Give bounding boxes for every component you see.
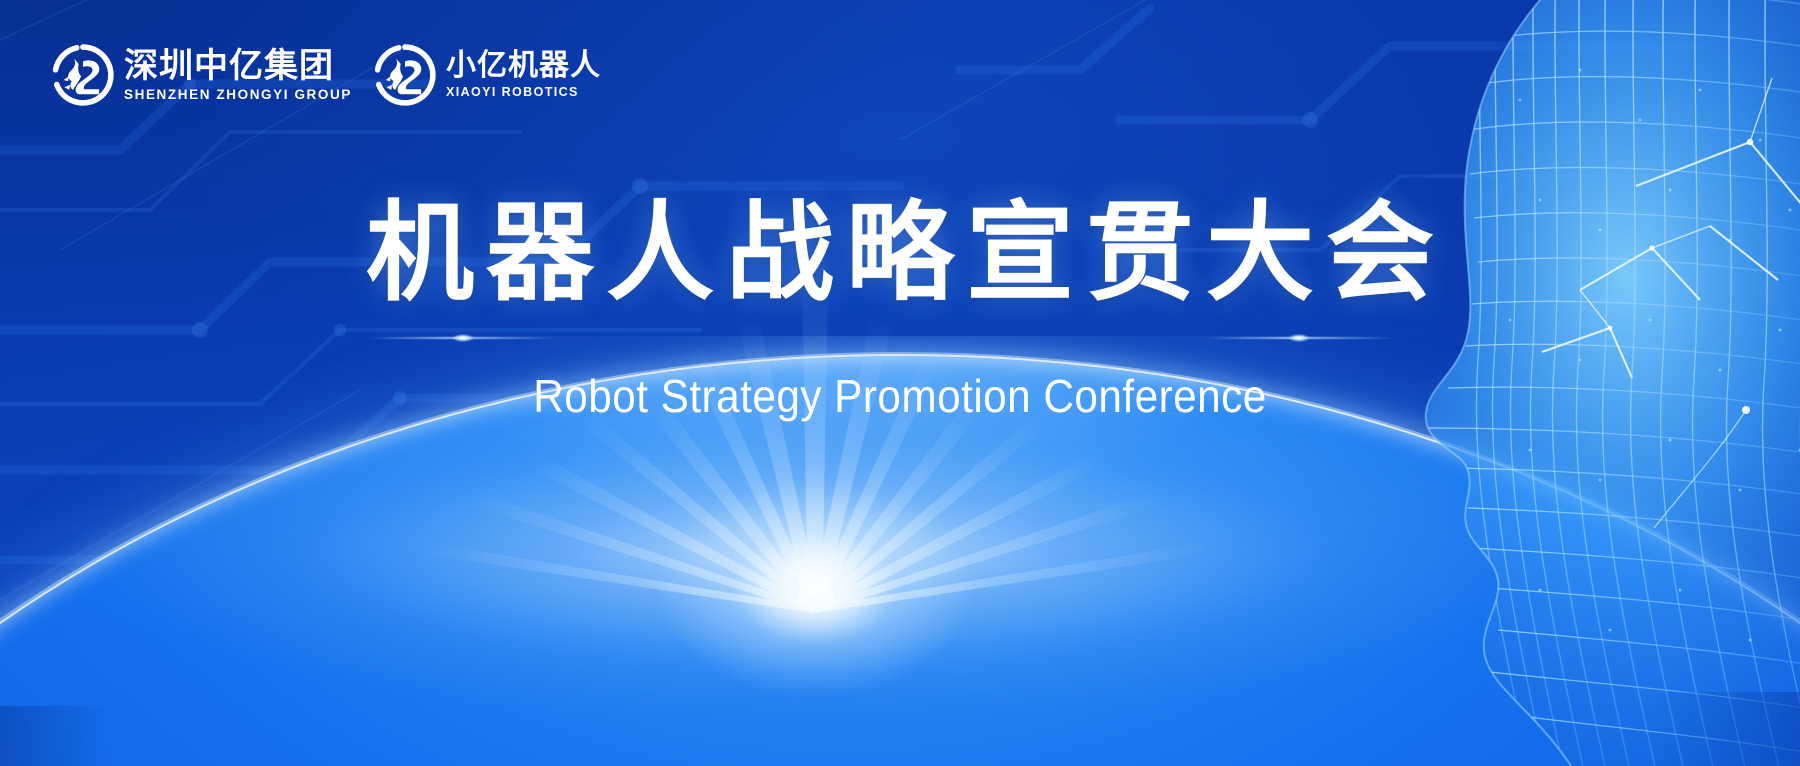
logo-row: 深圳中亿集团 SHENZHEN ZHONGYI GROUP 小亿机器人 XIAO… [52,44,601,106]
light-streak-icon [368,333,558,343]
logo-zhongyi-en: SHENZHEN ZHONGYI GROUP [124,88,352,102]
right-edge-shade [1650,692,1800,766]
conference-banner: 深圳中亿集团 SHENZHEN ZHONGYI GROUP 小亿机器人 XIAO… [0,0,1800,766]
title-divider [0,325,1800,351]
logo-xiaoyi-cn: 小亿机器人 [446,51,601,81]
logo-xiaoyi-en: XIAOYI ROBOTICS [446,86,601,99]
logo-xiaoyi[interactable]: 小亿机器人 XIAOYI ROBOTICS [374,44,601,106]
circular-dragon-yi-logo-icon [374,44,436,106]
logo-zhongyi-cn: 深圳中亿集团 [124,49,352,83]
page-subtitle: Robot Strategy Promotion Conference [72,369,1728,423]
light-streak-icon [1204,333,1394,343]
logo-zhongyi[interactable]: 深圳中亿集团 SHENZHEN ZHONGYI GROUP [52,44,352,106]
left-edge-shade [0,706,112,766]
sun-core-glow [655,478,975,698]
circular-dragon-yi-logo-icon [52,44,114,106]
title-block: 机器人战略宣贯大会 Robot Strategy Promotion Confe… [0,196,1800,423]
page-title: 机器人战略宣贯大会 [0,196,1800,313]
